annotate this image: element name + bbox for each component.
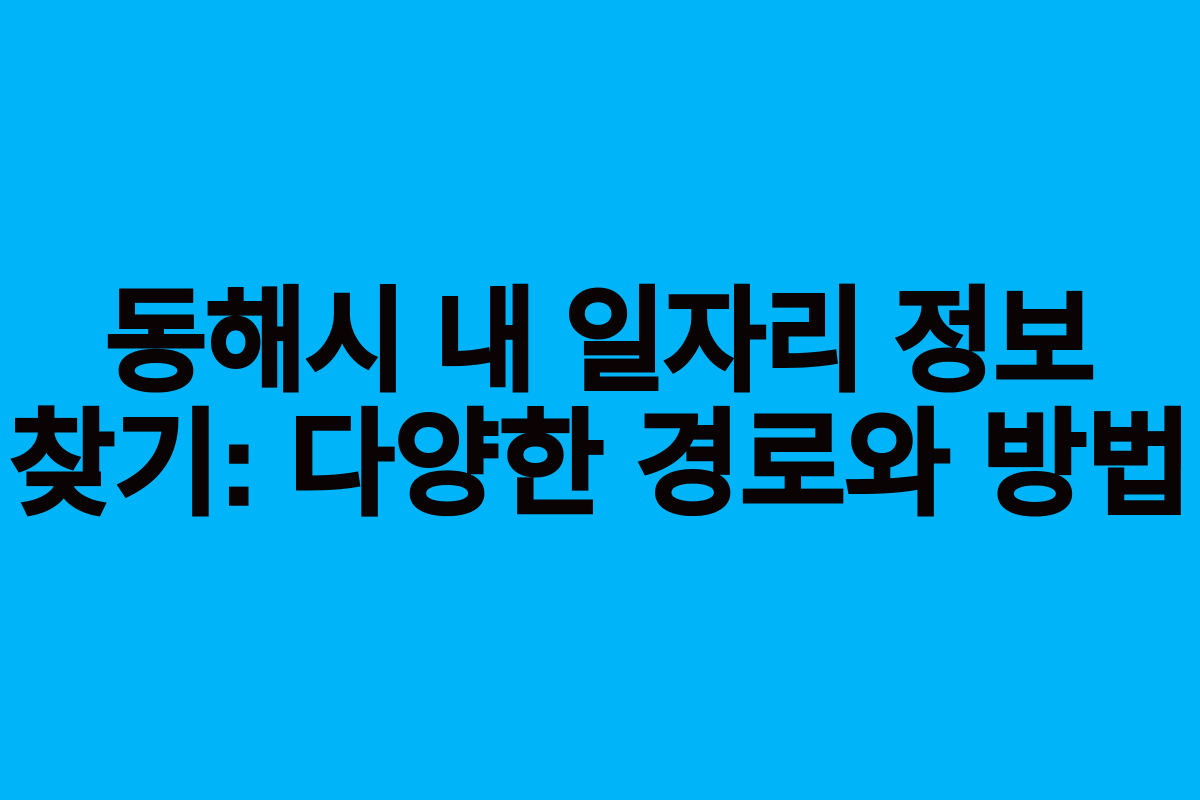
title-line-1: 동해시 내 일자리 정보 <box>22 280 1178 404</box>
page-title: 동해시 내 일자리 정보 찾기: 다양한 경로와 방법 <box>10 280 1190 528</box>
title-line-2: 찾기: 다양한 경로와 방법 <box>10 404 1190 528</box>
banner-canvas: 동해시 내 일자리 정보 찾기: 다양한 경로와 방법 <box>0 0 1200 800</box>
